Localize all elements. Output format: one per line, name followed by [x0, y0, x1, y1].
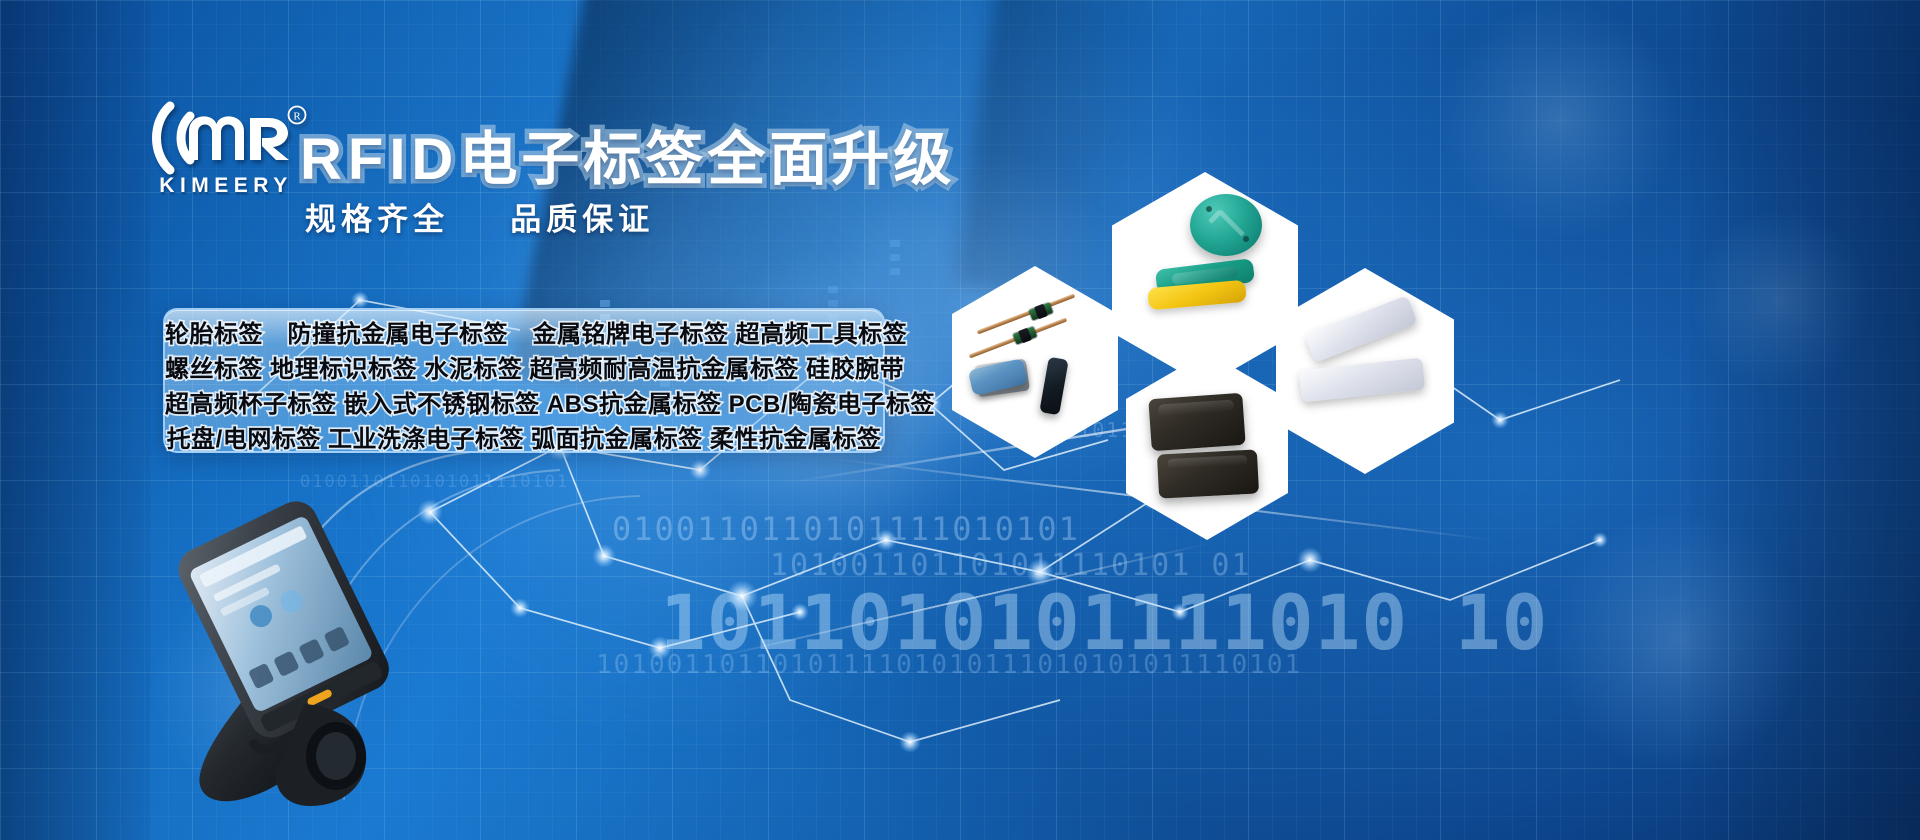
circuit-dots-4 [890, 240, 900, 282]
rfid-banner: 010011011010111 01 010011011010101111010… [0, 0, 1920, 840]
handheld-rfid-reader [168, 500, 398, 820]
page-title-en: RFID [300, 127, 459, 192]
reader-body [171, 500, 396, 745]
tag-list-row-2: 螺丝标签 地理标识标签 水泥标签 超高频耐高温抗金属标签 硅胶腕带 [165, 349, 883, 384]
kimeery-logo[interactable]: R KIMEERY [140, 98, 310, 206]
kimeery-logo-mark: R [140, 98, 310, 178]
page-subtitle-left: 规格齐全 [305, 202, 449, 237]
binary-text-6: 0100110110101011110101 [300, 472, 569, 492]
binary-text-1: 0100110110101111010101 [612, 510, 1080, 548]
tag-list-row-3: 超高频杯子标签 嵌入式不锈钢标签 ABS抗金属标签 PCB/陶瓷电子标签 [165, 384, 883, 419]
kimeery-wordmark: KIMEERY [142, 174, 310, 198]
product-tag-list: 轮胎标签 防撞抗金属电子标签 金属铭牌电子标签 超高频工具标签 螺丝标签 地理标… [163, 308, 885, 453]
page-title: RFID电子标签全面升级 [300, 112, 955, 196]
tag-list-row-4: 托盘/电网标签 工业洗涤电子标签 弧面抗金属标签 柔性抗金属标签 [165, 419, 883, 454]
page-subtitle-right: 品质保证 [510, 202, 654, 237]
tag-list-row-1: 轮胎标签 防撞抗金属电子标签 金属铭牌电子标签 超高频工具标签 [165, 314, 883, 349]
binary-text-4: 1010011011010111101010111010101011110101 [596, 650, 1302, 680]
page-subtitle: 规格齐全 品质保证 [305, 194, 654, 239]
page-title-cn: 电子标签全面升级 [459, 127, 955, 192]
